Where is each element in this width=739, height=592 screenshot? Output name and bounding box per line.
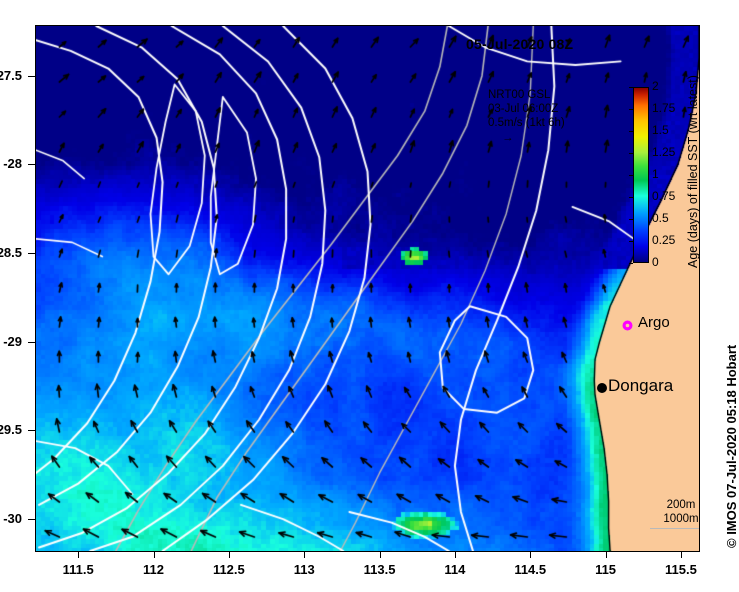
bathymetry-depth-key: 200m 1000m xyxy=(650,498,700,529)
x-tick-label: 112 xyxy=(124,562,184,577)
x-tick xyxy=(606,551,607,558)
vector-key-arrow-icon: → xyxy=(502,131,565,145)
y-tick xyxy=(28,430,35,431)
colorbar-tick-label: 1.5 xyxy=(652,123,669,137)
colorbar-tick xyxy=(629,263,633,264)
colorbar-tick-label: 0.25 xyxy=(652,233,675,247)
colorbar-tick xyxy=(629,197,633,198)
x-tick-label: 114 xyxy=(425,562,485,577)
colorbar-tick-label: 1.25 xyxy=(652,145,675,159)
y-tick-label: -29.5 xyxy=(0,422,22,437)
y-tick xyxy=(28,76,35,77)
colorbar-tick xyxy=(629,175,633,176)
argo-marker-icon[interactable] xyxy=(622,320,633,331)
vector-key-time: 03-Jul 06:00Z xyxy=(488,102,565,116)
x-tick-label: 115 xyxy=(576,562,636,577)
x-tick xyxy=(681,551,682,558)
colorbar-title: Age (days) of filled SST (wrt latest) xyxy=(686,75,700,268)
y-tick xyxy=(28,253,35,254)
x-tick xyxy=(530,551,531,558)
colorbar-tick-label: 0 xyxy=(652,255,659,269)
x-tick xyxy=(154,551,155,558)
y-tick-label: -30 xyxy=(0,511,22,526)
x-tick-label: 112.5 xyxy=(199,562,259,577)
contours-and-current-vectors xyxy=(36,26,699,551)
map-date-title: 05-Jul-2020 08Z xyxy=(466,36,573,52)
colorbar-tick-label: 1.75 xyxy=(652,101,675,115)
x-tick xyxy=(380,551,381,558)
x-tick xyxy=(304,551,305,558)
depth-key-rule xyxy=(650,528,700,529)
colorbar-tick-label: 0.75 xyxy=(652,189,675,203)
argo-label: Argo xyxy=(638,314,670,331)
x-tick xyxy=(455,551,456,558)
y-tick xyxy=(28,342,35,343)
x-tick-label: 111.5 xyxy=(48,562,108,577)
x-tick xyxy=(229,551,230,558)
y-tick-label: -28 xyxy=(0,156,22,171)
y-tick xyxy=(28,164,35,165)
colorbar-tick xyxy=(629,241,633,242)
colorbar-tick-label: 2 xyxy=(652,79,659,93)
y-tick xyxy=(28,519,35,520)
y-tick-label: -28.5 xyxy=(0,245,22,260)
x-tick xyxy=(78,551,79,558)
colorbar-tick xyxy=(629,131,633,132)
x-tick-label: 114.5 xyxy=(500,562,560,577)
colorbar-tick xyxy=(629,109,633,110)
map-plot-area[interactable]: 05-Jul-2020 08Z NRT00 GSL 03-Jul 06:00Z … xyxy=(35,25,700,552)
imos-credit: © IMOS 07-Jul-2020 05:18 Hobart xyxy=(724,345,739,548)
colorbar-gradient xyxy=(633,87,649,263)
y-tick-label: -27.5 xyxy=(0,68,22,83)
dongara-label: Dongara xyxy=(608,376,673,396)
depth-key-1000m: 1000m xyxy=(650,512,700,526)
sst-age-map-figure: 05-Jul-2020 08Z NRT00 GSL 03-Jul 06:00Z … xyxy=(0,0,739,592)
colorbar-tick xyxy=(629,153,633,154)
vector-key-scale: 0.5m/s (1kt 6h) xyxy=(488,116,565,130)
y-tick-label: -29 xyxy=(0,334,22,349)
colorbar-tick xyxy=(629,87,633,88)
x-tick-label: 113.5 xyxy=(350,562,410,577)
colorbar-tick xyxy=(629,219,633,220)
colorbar-tick-label: 1 xyxy=(652,167,659,181)
x-tick-label: 115.5 xyxy=(651,562,711,577)
current-vector-key: NRT00 GSL 03-Jul 06:00Z 0.5m/s (1kt 6h) … xyxy=(488,88,565,145)
x-tick-label: 113 xyxy=(274,562,334,577)
station-dot-dongara[interactable] xyxy=(597,383,607,393)
colorbar-tick-label: 0.5 xyxy=(652,211,669,225)
depth-key-200m: 200m xyxy=(650,498,700,512)
vector-key-source: NRT00 GSL xyxy=(488,88,565,102)
